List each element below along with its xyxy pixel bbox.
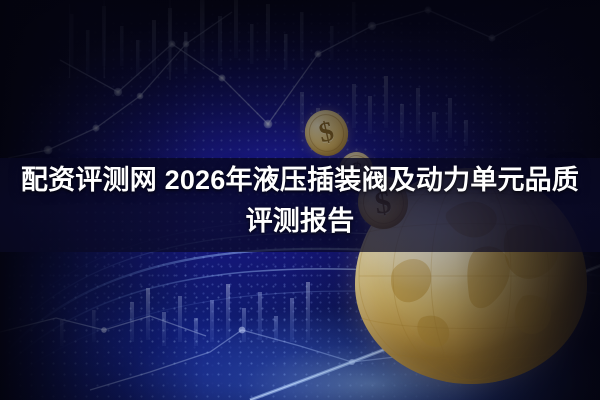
banner-image: $ $ xyxy=(0,0,600,400)
page-title: 配资评测网 2026年液压插装阀及动力单元品质评测报告 xyxy=(0,160,600,242)
page-title-text: 配资评测网 2026年液压插装阀及动力单元品质评测报告 xyxy=(21,165,579,236)
